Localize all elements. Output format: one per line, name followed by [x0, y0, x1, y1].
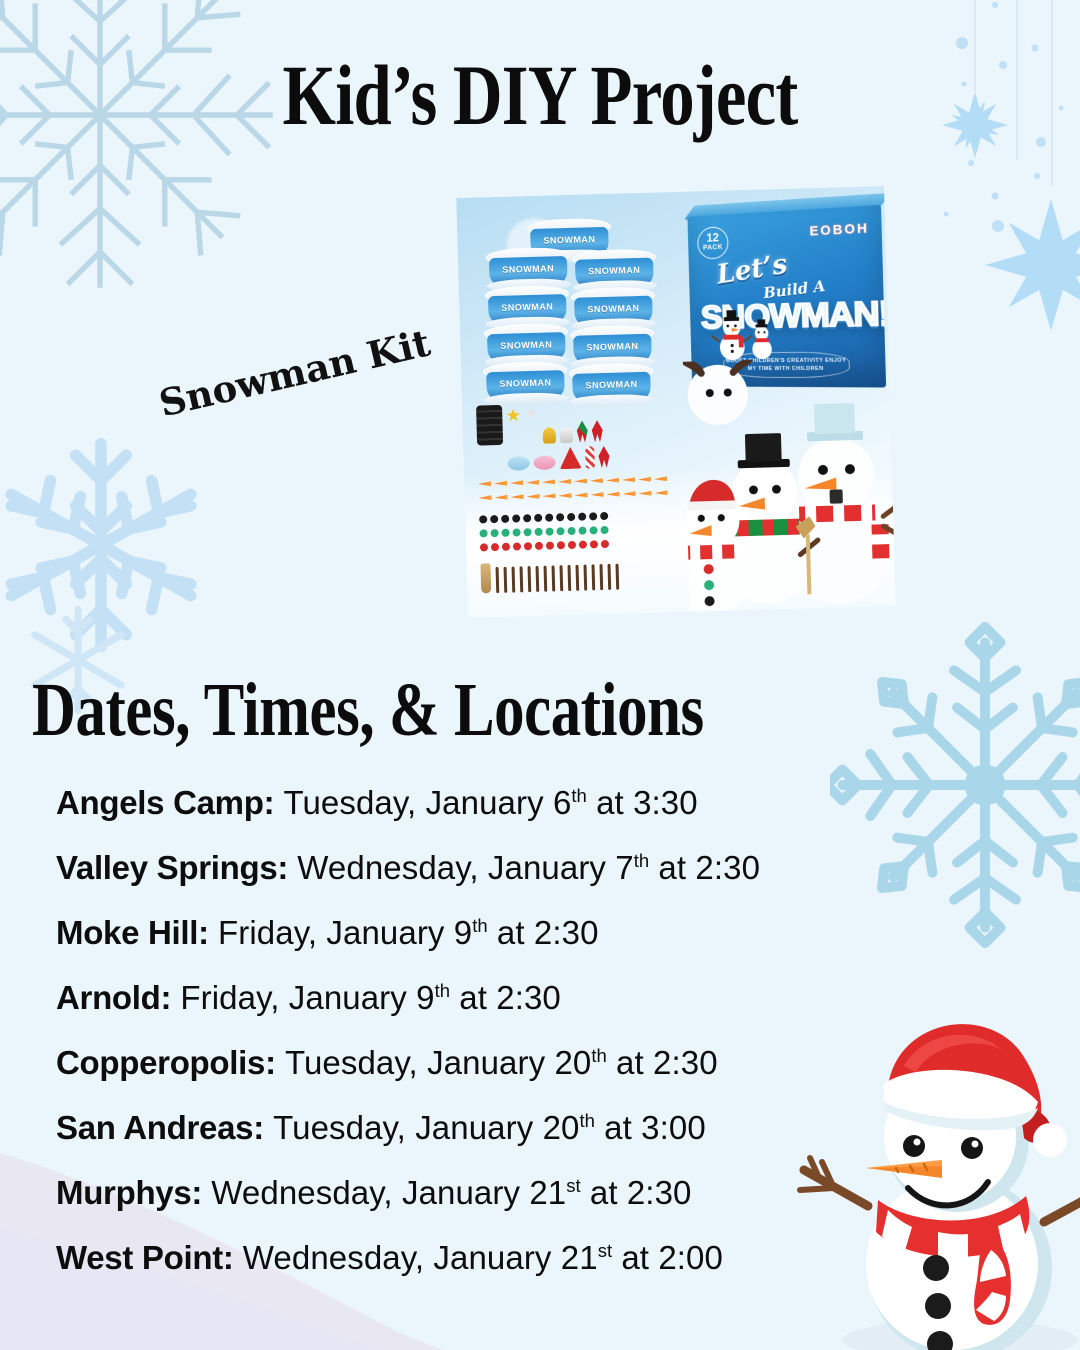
tub-label: SNOWMAN: [489, 263, 567, 275]
schedule-ordinal: th: [634, 850, 649, 871]
pink-disc: [533, 455, 555, 470]
schedule-date: 20: [554, 1044, 591, 1081]
schedule-row: Angels Camp: Tuesday, January 6th at 3:3…: [56, 786, 936, 819]
schedule-ordinal: th: [435, 980, 450, 1001]
schedule-time: at 2:30: [450, 979, 561, 1016]
bell-icon: [543, 427, 556, 443]
schedule-location: Copperopolis:: [56, 1044, 276, 1081]
schedule-ordinal: st: [598, 1240, 612, 1261]
pack-count-badge: 12 PACK: [697, 226, 729, 260]
tub-label: SNOWMAN: [573, 341, 651, 353]
schedule-day: Friday, January: [180, 979, 416, 1016]
dough-tub: SNOWMAN: [570, 325, 655, 367]
star-ornament-icon: [524, 406, 538, 420]
broom-piece: [480, 563, 491, 593]
dough-tub: SNOWMAN: [569, 363, 654, 405]
schedule-location: Valley Springs:: [56, 849, 288, 886]
ribbon-icon: [576, 420, 588, 442]
schedule-time: at 2:30: [581, 1174, 692, 1211]
assembled-snowmen-photo: [683, 356, 896, 612]
page-title: Kid’s DIY Project: [108, 52, 972, 138]
schedule-day: Wednesday, January: [211, 1174, 529, 1211]
dough-tub: SNOWMAN: [571, 287, 656, 329]
bell-icon: [560, 427, 573, 443]
schedule-row: Moke Hill: Friday, January 9th at 2:30: [56, 916, 936, 949]
schedule-day: Tuesday, January: [285, 1044, 555, 1081]
dough-tub: SNOWMAN: [484, 323, 569, 365]
dough-tub: SNOWMAN: [572, 249, 657, 291]
schedule-location: Murphys:: [56, 1174, 202, 1211]
schedule-ordinal: th: [472, 915, 487, 936]
blue-disc: [507, 456, 529, 471]
dough-tub: SNOWMAN: [485, 285, 570, 327]
dough-tub-stack: SNOWMAN SNOWMAN SNOWMAN SNOWMAN SNOWMAN …: [475, 216, 670, 401]
schedule-date: 9: [416, 979, 434, 1016]
santa-hat-piece: [559, 447, 582, 470]
dough-tub: SNOWMAN: [486, 247, 571, 289]
tub-label: SNOWMAN: [574, 303, 652, 315]
snowflake-outline-top-left: [0, 0, 280, 300]
schedule-row: Valley Springs: Wednesday, January 7th a…: [56, 851, 936, 884]
schedule-location: West Point:: [56, 1239, 234, 1276]
box-art-snowmen: [710, 307, 773, 361]
schedule-time: at 3:00: [595, 1109, 706, 1146]
tub-label: SNOWMAN: [488, 301, 566, 313]
product-photo: SNOWMAN SNOWMAN SNOWMAN SNOWMAN SNOWMAN …: [456, 186, 896, 618]
schedule-day: Friday, January: [218, 914, 454, 951]
schedule-date: 20: [543, 1109, 580, 1146]
ribbon-icon: [591, 420, 603, 442]
poster-canvas: Kid’s DIY Project Snowman Kit SNOWMAN SN…: [0, 0, 1080, 1350]
schedule-date: 7: [615, 849, 633, 886]
star-ornament-icon: [506, 408, 520, 422]
ribbon-icon: [598, 446, 610, 468]
schedule-location: Angels Camp:: [56, 784, 274, 821]
schedule-date: 9: [454, 914, 472, 951]
schedule-day: Wednesday, January: [243, 1239, 561, 1276]
tub-label: SNOWMAN: [575, 265, 653, 277]
schedule-ordinal: th: [591, 1045, 606, 1066]
candy-cane-piece: [585, 446, 595, 468]
schedule-location: Arnold:: [56, 979, 171, 1016]
black-hat-stack: [476, 405, 503, 446]
schedule-time: at 2:00: [612, 1239, 723, 1276]
snowflake-solid-left-middle: [0, 430, 216, 660]
pack-count-word: PACK: [698, 244, 727, 253]
tub-label: SNOWMAN: [486, 377, 564, 389]
schedule-ordinal: th: [571, 785, 586, 806]
schedule-location: Moke Hill:: [56, 914, 209, 951]
schedule-time: at 2:30: [649, 849, 760, 886]
schedule-time: at 2:30: [607, 1044, 718, 1081]
brand-wordmark: EOBOH: [809, 220, 869, 238]
dough-tub: SNOWMAN: [483, 361, 568, 403]
schedule-date: 6: [553, 784, 571, 821]
schedule-ordinal: st: [566, 1175, 580, 1196]
schedule-date: 21: [529, 1174, 566, 1211]
schedule-day: Tuesday, January: [273, 1109, 543, 1146]
section-heading: Dates, Times, & Locations: [32, 672, 704, 748]
tub-label: SNOWMAN: [487, 339, 565, 351]
snowman-with-santa-hat: [792, 1010, 1080, 1350]
schedule-day: Wednesday, January: [297, 849, 615, 886]
schedule-day: Tuesday, January: [283, 784, 553, 821]
schedule-ordinal: th: [580, 1110, 595, 1131]
tub-label: SNOWMAN: [530, 234, 608, 246]
tub-label: SNOWMAN: [572, 379, 650, 391]
kit-label: Snowman Kit: [155, 320, 434, 425]
schedule-time: at 3:30: [587, 784, 698, 821]
schedule-date: 21: [561, 1239, 598, 1276]
schedule-time: at 2:30: [488, 914, 599, 951]
snowflake-edge-top-right: [976, 180, 1080, 350]
schedule-location: San Andreas:: [56, 1109, 264, 1146]
